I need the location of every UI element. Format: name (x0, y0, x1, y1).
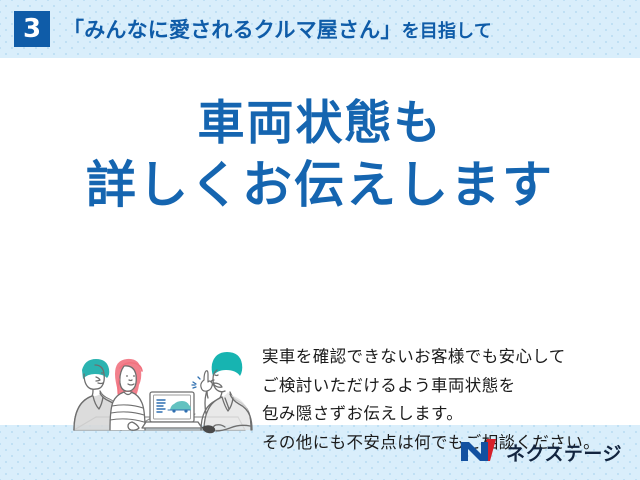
headline: 車両状態も 詳しくお伝えします (0, 94, 640, 216)
header-title: 「みんなに愛されるクルマ屋さん」を目指して (63, 14, 492, 44)
body-copy-line-1: 実車を確認できないお客様でも安心して (262, 343, 600, 372)
brand-logo: ネクステージ (459, 437, 622, 467)
step-number-badge: 3 (14, 11, 50, 47)
footer: ネクステージ (0, 425, 640, 480)
nextage-n-logo-icon (459, 437, 499, 468)
body-copy-line-2: ご検討いただけるよう車両状態を (262, 372, 600, 401)
content-card: 車両状態も 詳しくお伝えします (0, 58, 640, 425)
brand-name: ネクステージ (506, 439, 622, 466)
header-title-tail: を目指して (402, 21, 492, 41)
promotional-banner: 3 「みんなに愛されるクルマ屋さん」を目指して 車両状態も 詳しくお伝えします (0, 0, 640, 480)
headline-line-1: 車両状態も (0, 94, 640, 151)
header-title-quoted: 「みんなに愛されるクルマ屋さん」 (63, 19, 402, 42)
headline-line-2: 詳しくお伝えします (0, 155, 640, 216)
header: 3 「みんなに愛されるクルマ屋さん」を目指して (0, 0, 640, 58)
